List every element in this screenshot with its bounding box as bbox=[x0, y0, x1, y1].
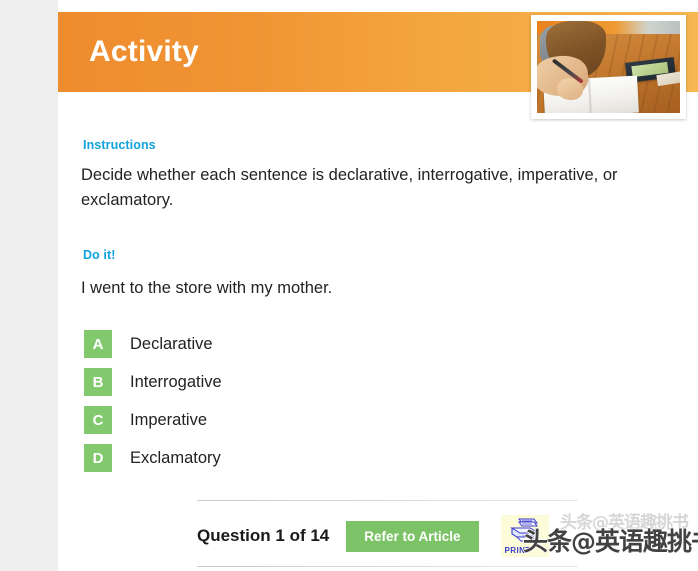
refer-to-article-button[interactable]: Refer to Article bbox=[346, 521, 478, 552]
printer-icon bbox=[508, 518, 542, 543]
instructions-label: Instructions bbox=[83, 138, 156, 152]
footer-divider-bottom bbox=[197, 566, 578, 567]
option-letter-badge-c[interactable]: C bbox=[84, 406, 112, 434]
option-letter-badge-d[interactable]: D bbox=[84, 444, 112, 472]
question-prompt-text: I went to the store with my mother. bbox=[81, 276, 677, 301]
option-letter-badge-b[interactable]: B bbox=[84, 368, 112, 396]
answer-options-list: A Declarative B Interrogative C Imperati… bbox=[84, 325, 504, 477]
answer-option-b[interactable]: B Interrogative bbox=[84, 363, 504, 401]
option-label-c[interactable]: Imperative bbox=[130, 412, 207, 429]
option-label-a[interactable]: Declarative bbox=[130, 336, 213, 353]
do-it-label: Do it! bbox=[83, 248, 116, 262]
footer-toolbar: Question 1 of 14 Refer to Article PRINT bbox=[197, 510, 687, 562]
print-button[interactable]: PRINT bbox=[501, 515, 549, 557]
page-background: Activity Instructions Decide whether eac… bbox=[0, 0, 698, 571]
footer-divider-top bbox=[197, 500, 578, 501]
answer-option-a[interactable]: A Declarative bbox=[84, 325, 504, 363]
answer-option-d[interactable]: D Exclamatory bbox=[84, 439, 504, 477]
option-label-b[interactable]: Interrogative bbox=[130, 374, 222, 391]
page-title: Activity bbox=[89, 37, 199, 67]
question-counter: Question 1 of 14 bbox=[197, 526, 329, 546]
print-label: PRINT bbox=[505, 546, 531, 555]
header-photo-image bbox=[537, 21, 680, 113]
header-photo-thumbnail bbox=[531, 15, 686, 119]
answer-option-c[interactable]: C Imperative bbox=[84, 401, 504, 439]
instructions-text: Decide whether each sentence is declarat… bbox=[81, 163, 677, 213]
option-label-d[interactable]: Exclamatory bbox=[130, 450, 221, 467]
option-letter-badge-a[interactable]: A bbox=[84, 330, 112, 358]
